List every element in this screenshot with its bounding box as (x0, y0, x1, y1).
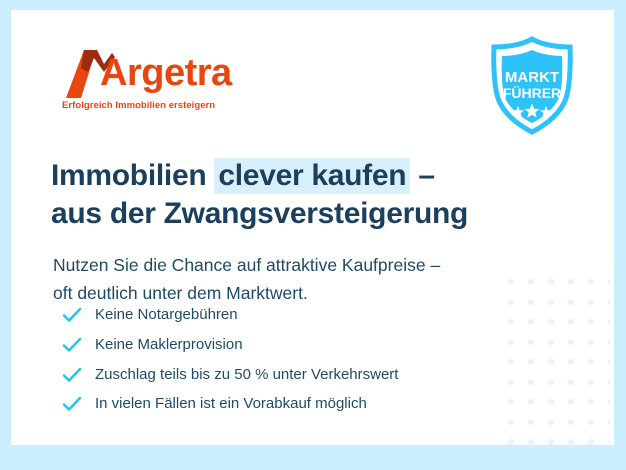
logo-tagline: Erfolgreich Immobilien ersteigern (62, 100, 215, 111)
headline-part1: Immobilien (51, 159, 214, 192)
logo-wordmark: Argetra (100, 54, 232, 92)
check-icon (62, 337, 82, 353)
list-item: Keine Maklerprovision (59, 336, 519, 355)
subheading: Nutzen Sie die Chance auf attraktive Kau… (53, 251, 553, 308)
benefit-list: Keine Notargebühren Keine Maklerprovisio… (59, 306, 519, 414)
page-title: Immobilien clever kaufen – aus der Zwang… (51, 157, 551, 234)
list-item-label: Zuschlag teils bis zu 50 % unter Verkehr… (95, 366, 398, 383)
shield-badge-icon: MARKT FÜHRER (484, 36, 580, 136)
headline-part2: – (410, 159, 434, 192)
list-item-label: Keine Maklerprovision (95, 336, 243, 353)
badge-line1: MARKT (505, 69, 559, 86)
check-icon (62, 367, 82, 383)
list-item: Keine Notargebühren (59, 306, 519, 325)
list-item-label: Keine Notargebühren (95, 306, 238, 323)
headline-highlight: clever kaufen (214, 158, 410, 194)
list-item: In vielen Fällen ist ein Vorabkauf mögli… (59, 395, 519, 414)
headline-line2: aus der Zwangsversteigerung (51, 195, 551, 233)
subheading-line1: Nutzen Sie die Chance auf attraktive Kau… (53, 255, 440, 275)
list-item-label: In vielen Fällen ist ein Vorabkauf mögli… (95, 395, 367, 412)
argetra-logo[interactable]: Argetra Erfolgreich Immobilien ersteiger… (56, 42, 256, 118)
check-icon (62, 396, 82, 412)
check-icon (62, 307, 82, 323)
list-item: Zuschlag teils bis zu 50 % unter Verkehr… (59, 366, 519, 385)
promo-banner: Argetra Erfolgreich Immobilien ersteiger… (0, 0, 626, 470)
badge-line2: FÜHRER (503, 85, 561, 101)
subheading-line2: oft deutlich unter dem Marktwert. (53, 279, 553, 307)
banner-card: Argetra Erfolgreich Immobilien ersteiger… (11, 10, 614, 445)
